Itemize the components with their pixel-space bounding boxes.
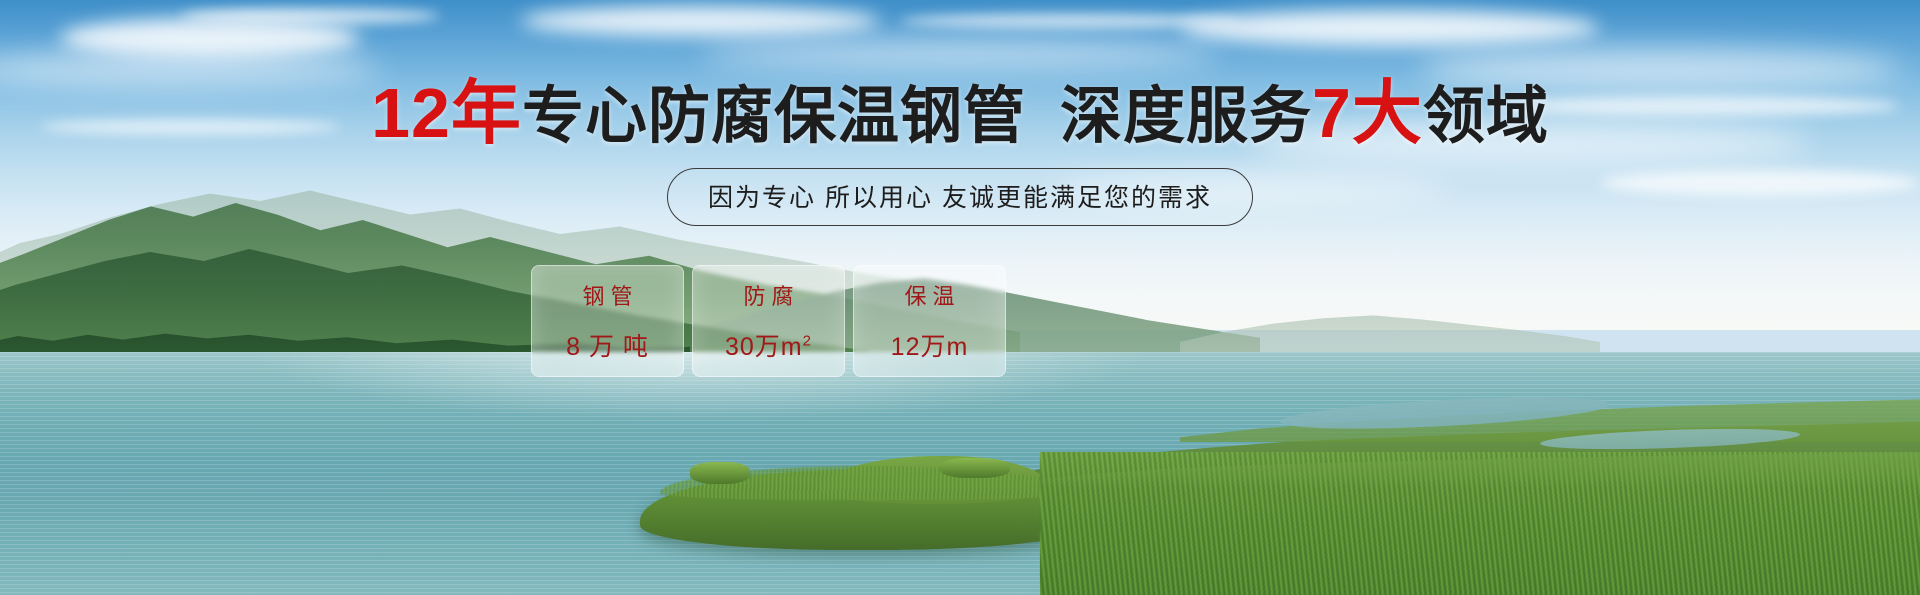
- cloud-shape: [520, 6, 880, 36]
- stat-card-anticorrosion[interactable]: 防腐 30万m2: [692, 265, 845, 377]
- banner-subtitle-wrapper: 因为专心 所以用心 友诚更能满足您的需求: [0, 168, 1920, 226]
- headline-years-highlight: 12年: [371, 74, 522, 152]
- cloud-shape: [1180, 10, 1600, 46]
- stat-value-exponent: 2: [803, 333, 812, 350]
- stat-value-main: 8 万 吨: [566, 333, 649, 361]
- stat-value: 30万m2: [725, 327, 812, 363]
- stat-card-group: 钢管 8 万 吨 防腐 30万m2 保温 12万m: [531, 265, 1006, 377]
- banner-headline: 12年专心防腐保温钢管深度服务7大领域: [0, 78, 1920, 148]
- stat-value: 12万m: [891, 327, 969, 363]
- cloud-shape: [700, 40, 1220, 68]
- hero-banner: 12年专心防腐保温钢管深度服务7大领域 因为专心 所以用心 友诚更能满足您的需求…: [0, 0, 1920, 595]
- stat-label: 防腐: [737, 279, 799, 311]
- stat-value-main: 30万m: [725, 333, 803, 361]
- stat-label: 保温: [898, 279, 960, 311]
- banner-subtitle-pill: 因为专心 所以用心 友诚更能满足您的需求: [667, 168, 1253, 226]
- headline-fields-highlight: 7大: [1312, 74, 1423, 152]
- headline-fields-text: 领域: [1423, 82, 1549, 151]
- stat-card-insulation[interactable]: 保温 12万m: [853, 265, 1006, 377]
- reed-tuft: [690, 462, 750, 484]
- stat-label: 钢管: [576, 279, 638, 311]
- reed-tuft: [940, 458, 1010, 478]
- stat-value: 8 万 吨: [566, 327, 649, 363]
- stat-card-steel-pipe[interactable]: 钢管 8 万 吨: [531, 265, 684, 377]
- headline-main-text: 专心防腐保温钢管: [522, 82, 1026, 151]
- headline-service-text: 深度服务: [1060, 82, 1312, 151]
- stat-value-main: 12万m: [891, 333, 969, 361]
- cloud-wisp: [180, 8, 440, 24]
